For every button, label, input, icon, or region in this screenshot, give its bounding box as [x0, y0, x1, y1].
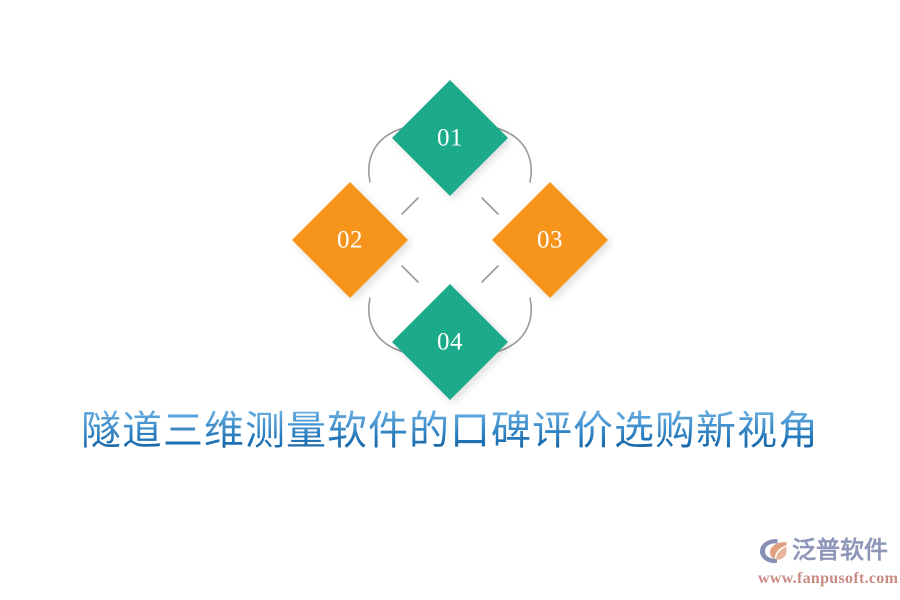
inner-connector-bottom-right	[482, 266, 498, 282]
four-node-diamond-diagram: 01 02 03 04	[270, 70, 630, 410]
node-02-label: 02	[337, 227, 363, 254]
inner-connector-bottom-left	[402, 266, 418, 282]
node-01-label: 01	[437, 125, 463, 152]
inner-connector-top-right	[482, 198, 498, 214]
page-title-text: 隧道三维测量软件的口碑评价选购新视角	[81, 404, 819, 458]
watermark-logo: 泛普软件 www.fanpusoft.com	[757, 534, 897, 590]
node-04-label: 04	[437, 329, 463, 356]
page-title: 隧道三维测量软件的口碑评价选购新视角	[0, 404, 900, 458]
fanpu-logo-icon	[757, 536, 789, 566]
node-03-label: 03	[537, 227, 563, 254]
watermark-brand: 泛普软件	[792, 537, 888, 565]
inner-connector-top-left	[402, 198, 418, 214]
watermark-url: www.fanpusoft.com	[758, 569, 897, 589]
inner-connectors	[402, 198, 498, 282]
page-canvas: 01 02 03 04 隧道三维测量软件的口碑评价选购新视角	[0, 0, 900, 600]
